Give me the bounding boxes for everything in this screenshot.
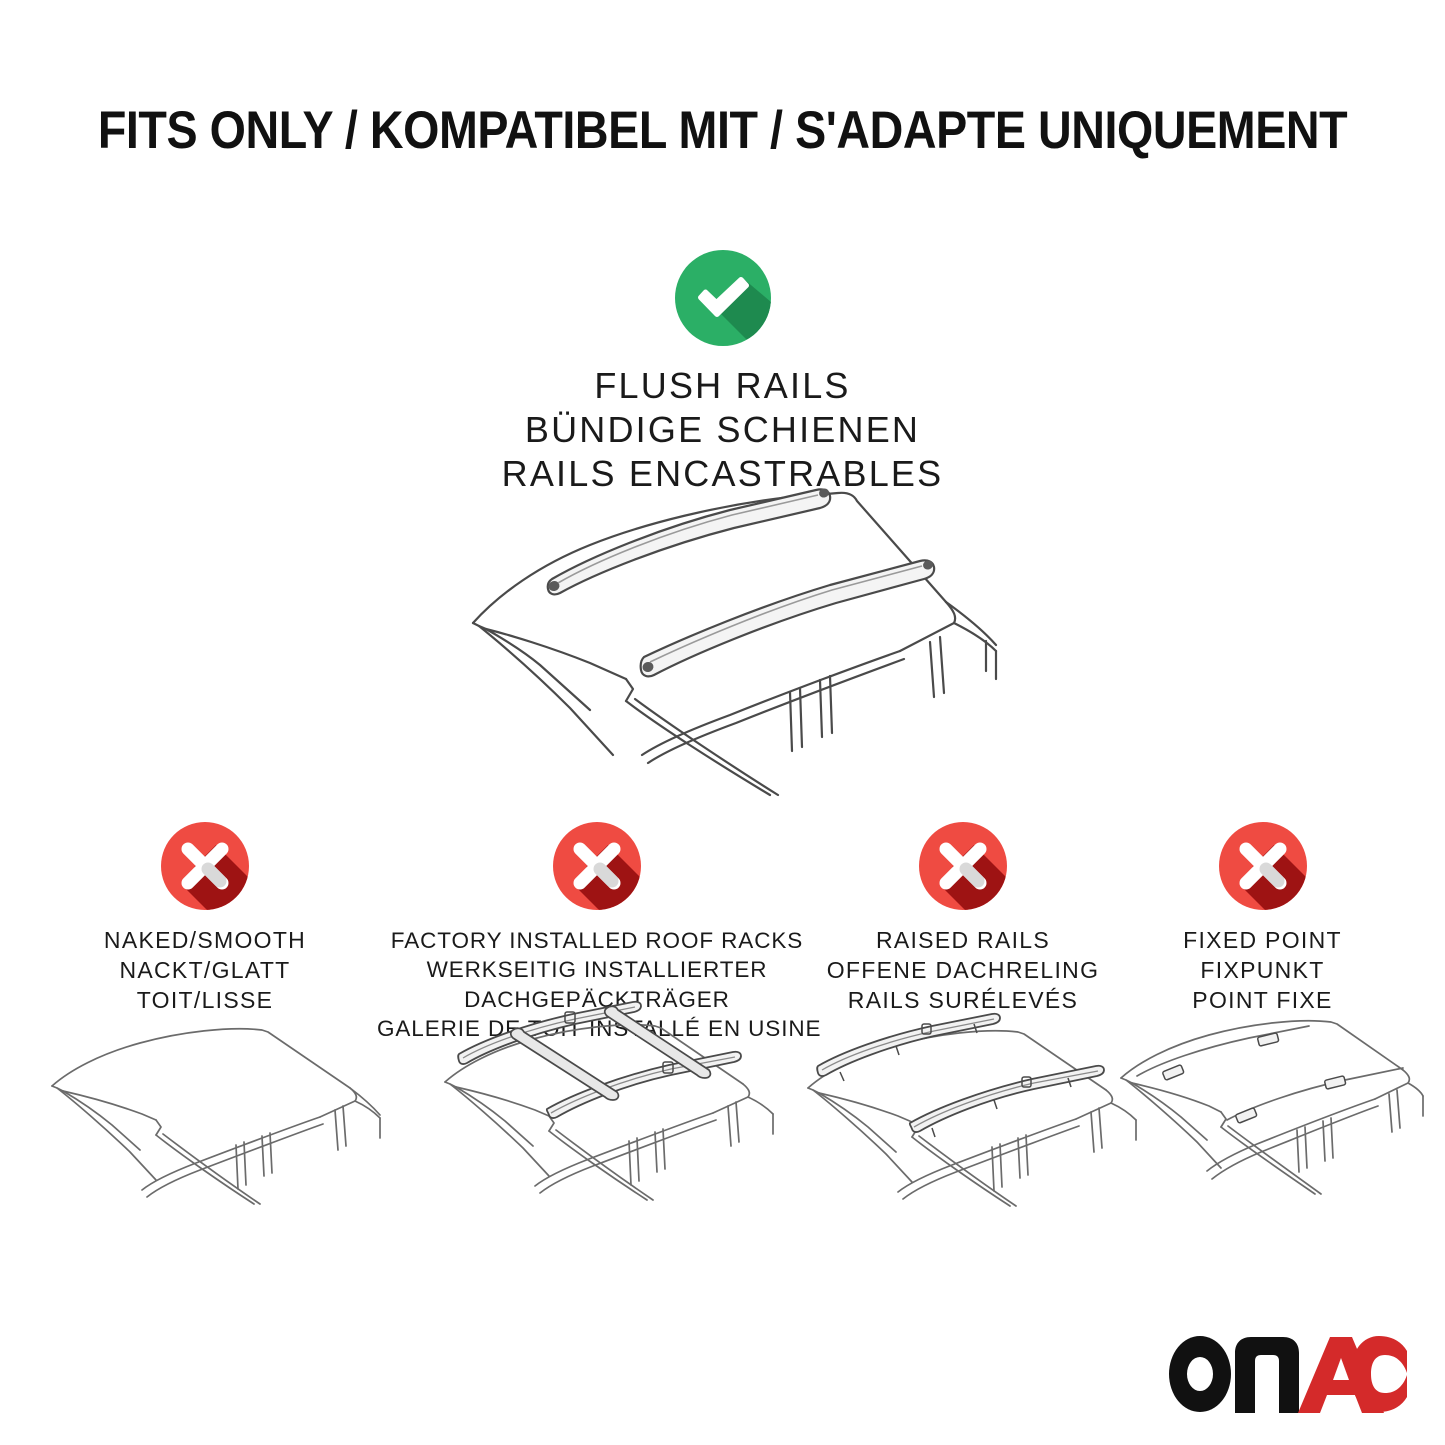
compatibility-infographic: FITS ONLY / KOMPATIBEL MIT / S'ADAPTE UN…	[0, 0, 1445, 1445]
omac-logo	[1167, 1335, 1407, 1413]
car-roof-with-flush-rails-illustration	[430, 465, 1030, 795]
label-de: NACKT/GLATT	[35, 956, 375, 986]
x-circle-icon	[919, 822, 1007, 910]
compatible-label-de: BÜNDIGE SCHIENEN	[0, 408, 1445, 452]
label-de-line1: WERKSEITIG INSTALLIERTER	[377, 955, 817, 984]
incompatible-item-naked-smooth: NAKED/SMOOTH NACKT/GLATT TOIT/LISSE	[35, 822, 375, 1016]
check-circle-icon	[675, 250, 771, 346]
label-en: FACTORY INSTALLED ROOF RACKS	[377, 926, 817, 955]
car-roof-with-factory-racks-illustration	[417, 984, 777, 1214]
label-en: FIXED POINT	[1110, 926, 1415, 956]
compatible-section: FLUSH RAILS BÜNDIGE SCHIENEN RAILS ENCAS…	[0, 250, 1445, 496]
label-fr: TOIT/LISSE	[35, 986, 375, 1016]
car-roof-naked-illustration	[30, 1014, 380, 1214]
car-roof-fixed-point-illustration	[1103, 1010, 1423, 1210]
compatible-label-en: FLUSH RAILS	[0, 364, 1445, 408]
incompatible-labels: NAKED/SMOOTH NACKT/GLATT TOIT/LISSE	[35, 926, 375, 1016]
label-de: OFFENE DACHRELING	[818, 956, 1108, 986]
incompatible-section: NAKED/SMOOTH NACKT/GLATT TOIT/LISSE	[0, 822, 1445, 1242]
x-circle-icon	[553, 822, 641, 910]
label-de: FIXPUNKT	[1110, 956, 1415, 986]
car-roof-with-raised-rails-illustration	[778, 994, 1148, 1214]
incompatible-item-factory-roof-racks: FACTORY INSTALLED ROOF RACKS WERKSEITIG …	[377, 822, 817, 1043]
page-title: FITS ONLY / KOMPATIBEL MIT / S'ADAPTE UN…	[87, 100, 1359, 161]
x-circle-icon	[161, 822, 249, 910]
incompatible-labels: FIXED POINT FIXPUNKT POINT FIXE	[1110, 926, 1415, 1016]
label-en: NAKED/SMOOTH	[35, 926, 375, 956]
incompatible-item-fixed-point: FIXED POINT FIXPUNKT POINT FIXE	[1110, 822, 1415, 1016]
x-circle-icon	[1219, 822, 1307, 910]
incompatible-item-raised-rails: RAISED RAILS OFFENE DACHRELING RAILS SUR…	[818, 822, 1108, 1016]
label-en: RAISED RAILS	[818, 926, 1108, 956]
